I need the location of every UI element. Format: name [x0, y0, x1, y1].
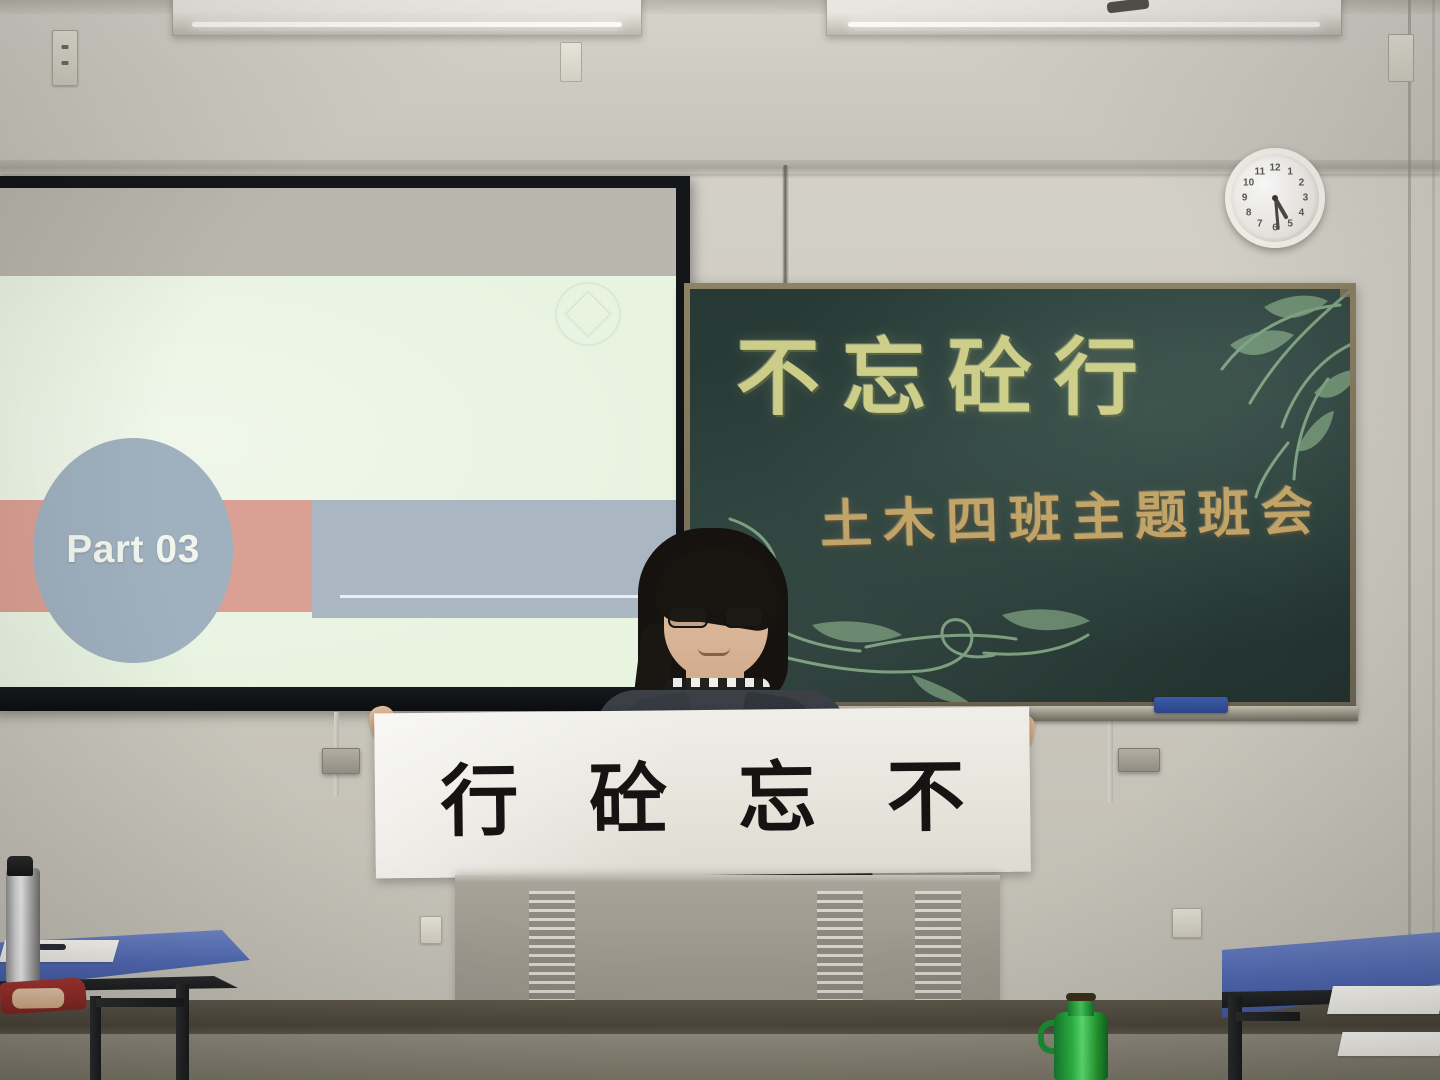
pen-left[interactable] — [38, 944, 66, 950]
desk-right — [1222, 932, 1440, 1080]
wall-outlet-lower-left — [420, 916, 442, 944]
slide-part-label: Part 03 — [33, 528, 233, 572]
wall-switch-plate-center[interactable] — [560, 42, 582, 82]
jug-cap[interactable] — [1066, 993, 1096, 1001]
wall-mounted-box-right — [1118, 748, 1160, 772]
clock-center-pin — [1272, 195, 1278, 201]
clock-numeral: 7 — [1257, 219, 1263, 230]
classroom-scene: Part 03 — [0, 0, 1440, 1080]
ceiling-light-fixture-left — [172, 0, 642, 36]
wall-clock: 12 1 2 3 4 5 6 7 8 9 10 11 — [1225, 148, 1325, 248]
blackboard-eraser[interactable] — [1154, 697, 1228, 713]
light-debris — [1106, 0, 1149, 14]
desk-left-leg-2 — [90, 996, 101, 1080]
fluorescent-tube — [192, 22, 623, 27]
thermos-cap[interactable] — [7, 856, 33, 876]
clock-numeral: 1 — [1287, 166, 1293, 177]
green-water-jug[interactable] — [1054, 1012, 1108, 1080]
glasses-lens-right — [724, 606, 764, 628]
watermark-logo-icon — [555, 282, 621, 346]
wall-outlet-upper-left — [52, 30, 78, 86]
desk-right-brace — [1236, 1012, 1300, 1021]
wall-seam-right — [1408, 0, 1411, 1080]
wall-switch-plate-right[interactable] — [1388, 34, 1414, 82]
podium-top-edge — [455, 875, 1000, 883]
paper-sheet-right-2[interactable] — [1337, 1032, 1440, 1056]
clock-numeral: 11 — [1255, 166, 1266, 177]
clock-numeral: 8 — [1246, 208, 1252, 219]
ceiling-light-fixture-right — [826, 0, 1342, 36]
banner-char-2: 砼 — [589, 737, 668, 850]
wall-mounted-box-left — [322, 748, 360, 774]
clock-face: 12 1 2 3 4 5 6 7 8 9 10 11 — [1235, 158, 1315, 238]
blackboard-subtitle: 土木四班主题班会 — [819, 469, 1325, 558]
blackboard-corner-clip — [1340, 285, 1354, 297]
wall-outlet-lower-right — [1172, 908, 1202, 938]
wall-seam-far-right — [1432, 0, 1435, 1080]
calligraphy-banner: 行 砼 忘 不 — [374, 707, 1031, 879]
paper-sheet-right[interactable] — [1327, 986, 1440, 1014]
banner-char-4: 不 — [886, 734, 965, 847]
wall-molding — [0, 160, 1440, 174]
clock-numeral: 12 — [1269, 162, 1280, 173]
clock-numeral: 10 — [1243, 177, 1254, 188]
clock-numeral: 5 — [1287, 219, 1293, 230]
steel-thermos[interactable] — [6, 868, 40, 984]
clock-numeral: 4 — [1299, 208, 1305, 219]
banner-char-1: 行 — [440, 738, 519, 851]
clock-numeral: 9 — [1242, 193, 1248, 204]
desk-left-brace — [96, 998, 184, 1007]
banner-characters: 行 砼 忘 不 — [374, 733, 1030, 852]
slide-part-circle: Part 03 — [33, 438, 233, 663]
clock-numeral: 2 — [1299, 177, 1305, 188]
fluorescent-tube — [848, 22, 1321, 27]
glasses-bridge — [708, 615, 724, 618]
outlet-slot — [62, 45, 69, 49]
clock-numeral: 3 — [1303, 193, 1309, 204]
blackboard-title: 不忘砼行 — [736, 311, 1160, 432]
glasses-lens-left — [668, 606, 708, 628]
banner-char-3: 忘 — [737, 735, 816, 848]
red-cloth-item — [0, 977, 87, 1015]
desk-right-leg-1 — [1228, 996, 1242, 1080]
glasses-icon — [668, 606, 764, 628]
mouth — [698, 648, 730, 656]
outlet-slot — [62, 61, 69, 65]
